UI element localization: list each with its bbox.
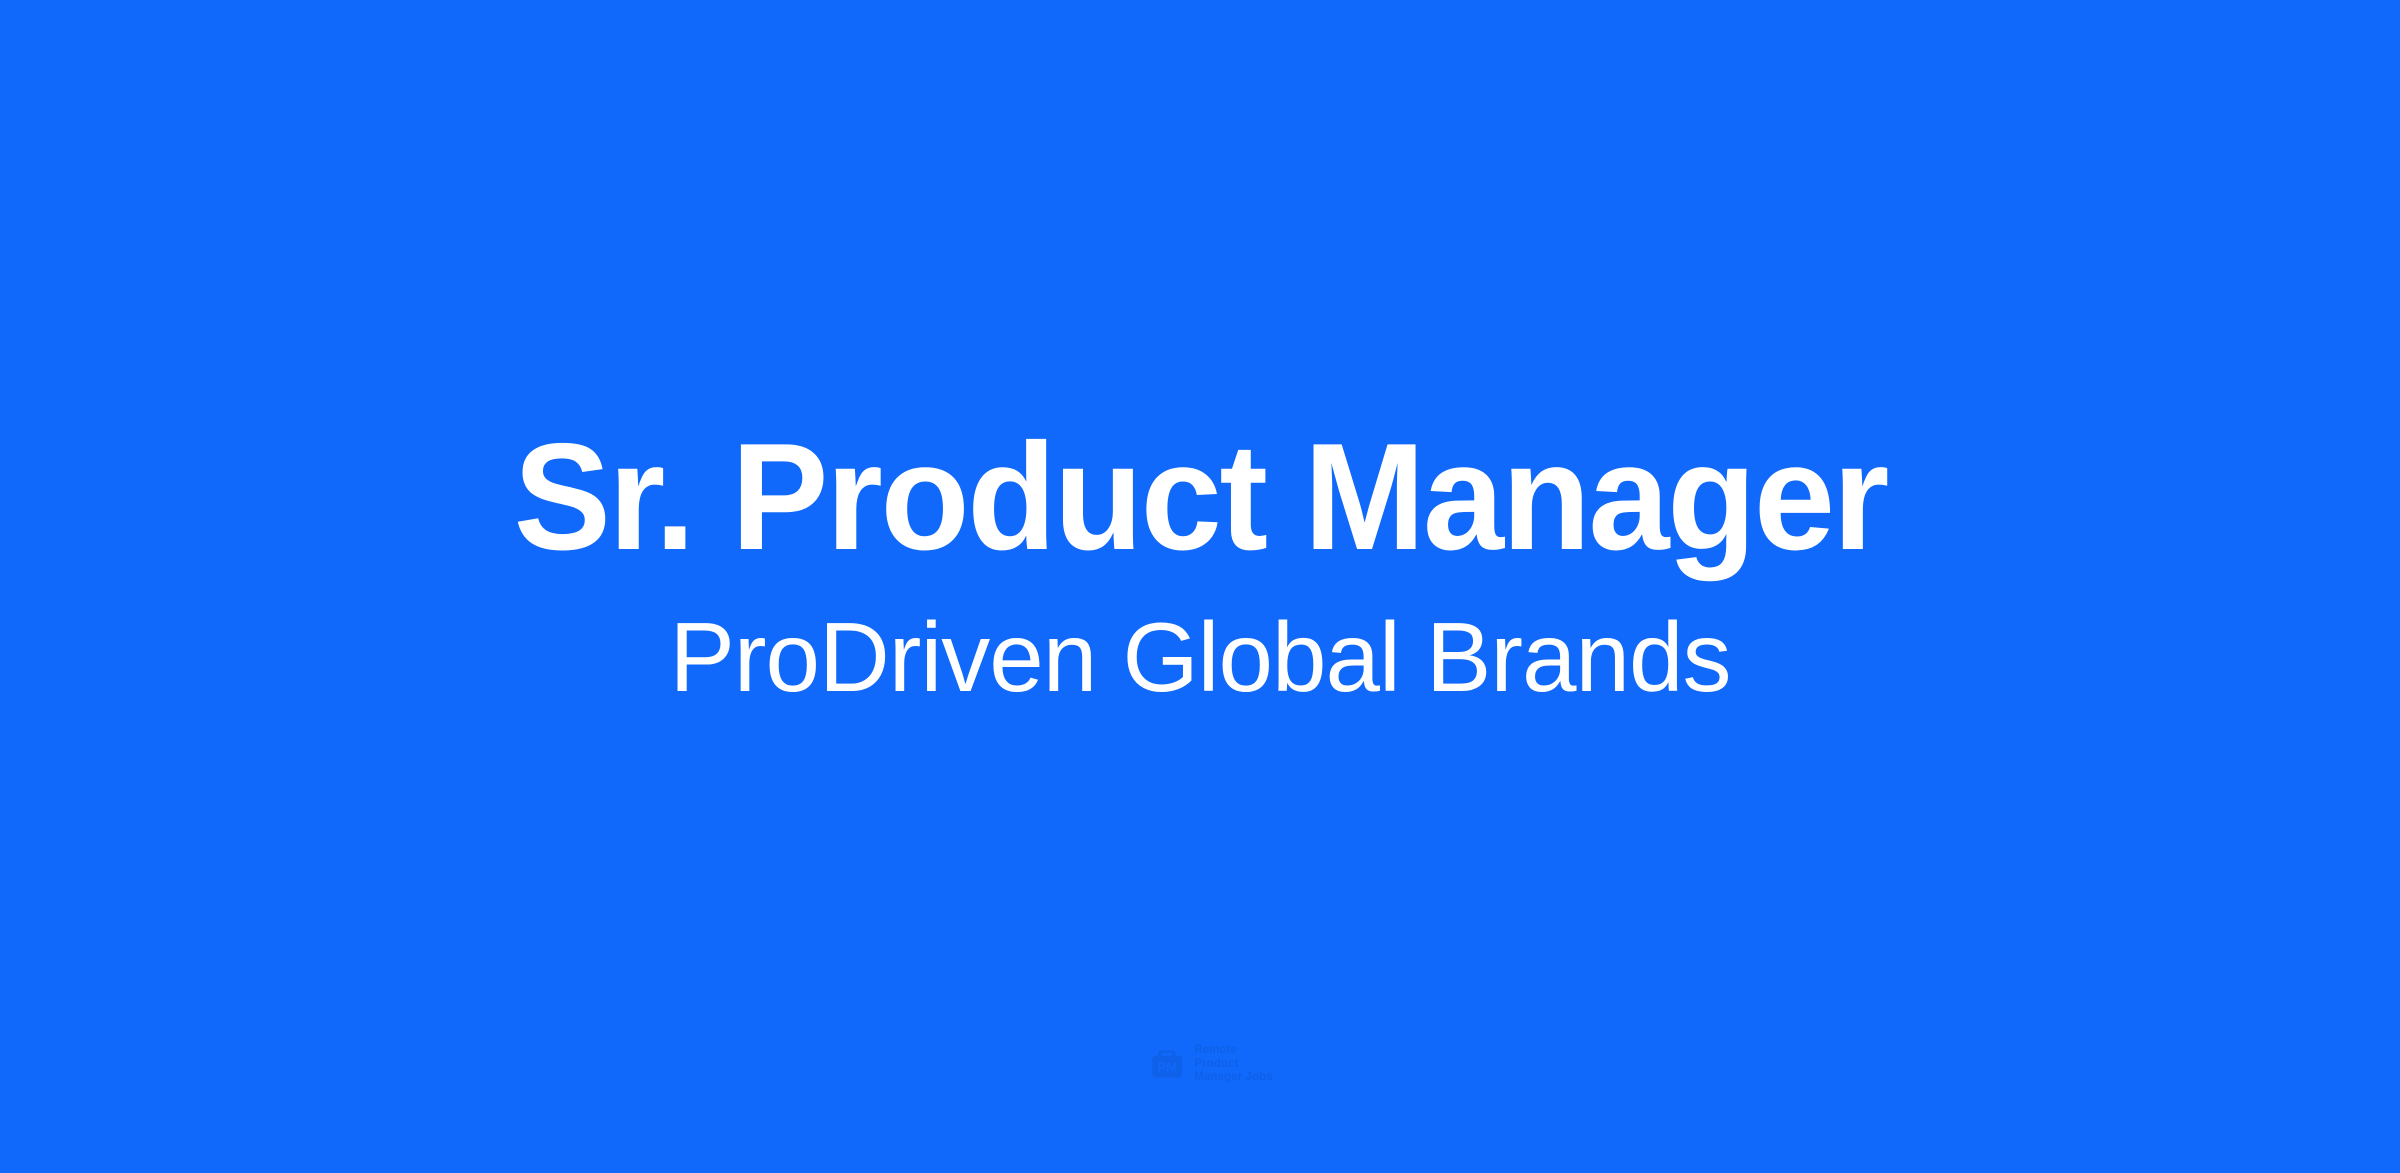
page-title: Sr. Product Manager [513,417,1886,578]
job-title-card: Sr. Product Manager ProDriven Global Bra… [0,0,2400,1173]
headline-block: Sr. Product Manager ProDriven Global Bra… [0,0,2400,1173]
company-name: ProDriven Global Brands [670,600,1731,716]
